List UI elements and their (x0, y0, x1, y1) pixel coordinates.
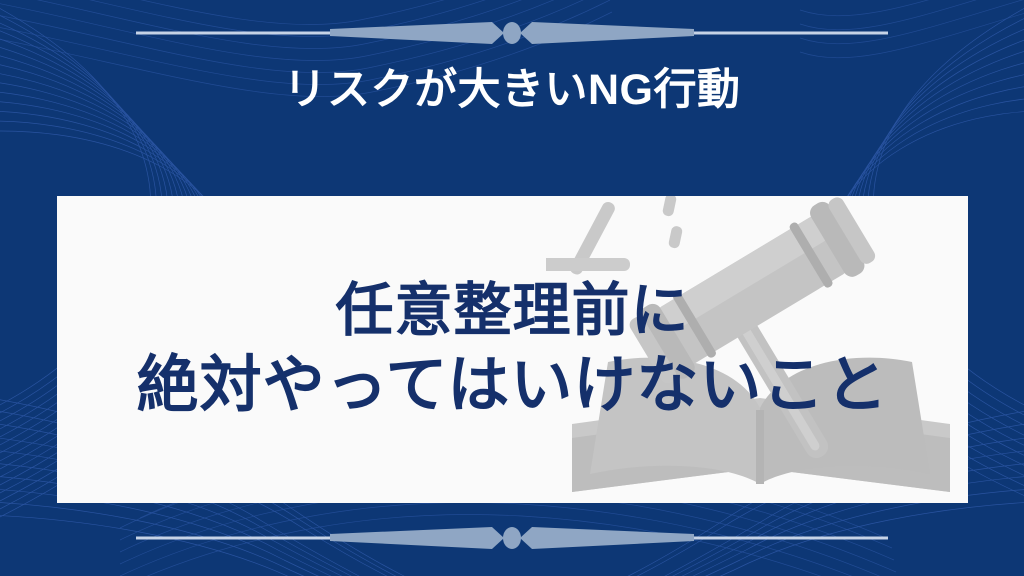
divider-center-dot (503, 22, 521, 44)
divider-wedge-right (520, 527, 694, 549)
divider-wedge-left (330, 22, 504, 44)
card-headline-block: 任意整理前に 絶対やってはいけないこと (57, 196, 968, 503)
card-headline-line-2: 絶対やってはいけないこと (137, 350, 889, 422)
bottom-divider-ornament (0, 521, 1024, 555)
divider-wedge-right (520, 22, 694, 44)
header-title: リスクが大きいNG行動 (0, 64, 1024, 118)
slide-root: リスクが大きいNG行動 (0, 0, 1024, 576)
divider-center-dot (503, 527, 521, 549)
top-divider-ornament (0, 16, 1024, 50)
divider-wedge-left (330, 527, 504, 549)
content-card: 任意整理前に 絶対やってはいけないこと (57, 196, 968, 503)
card-headline-line-1: 任意整理前に (335, 277, 689, 344)
